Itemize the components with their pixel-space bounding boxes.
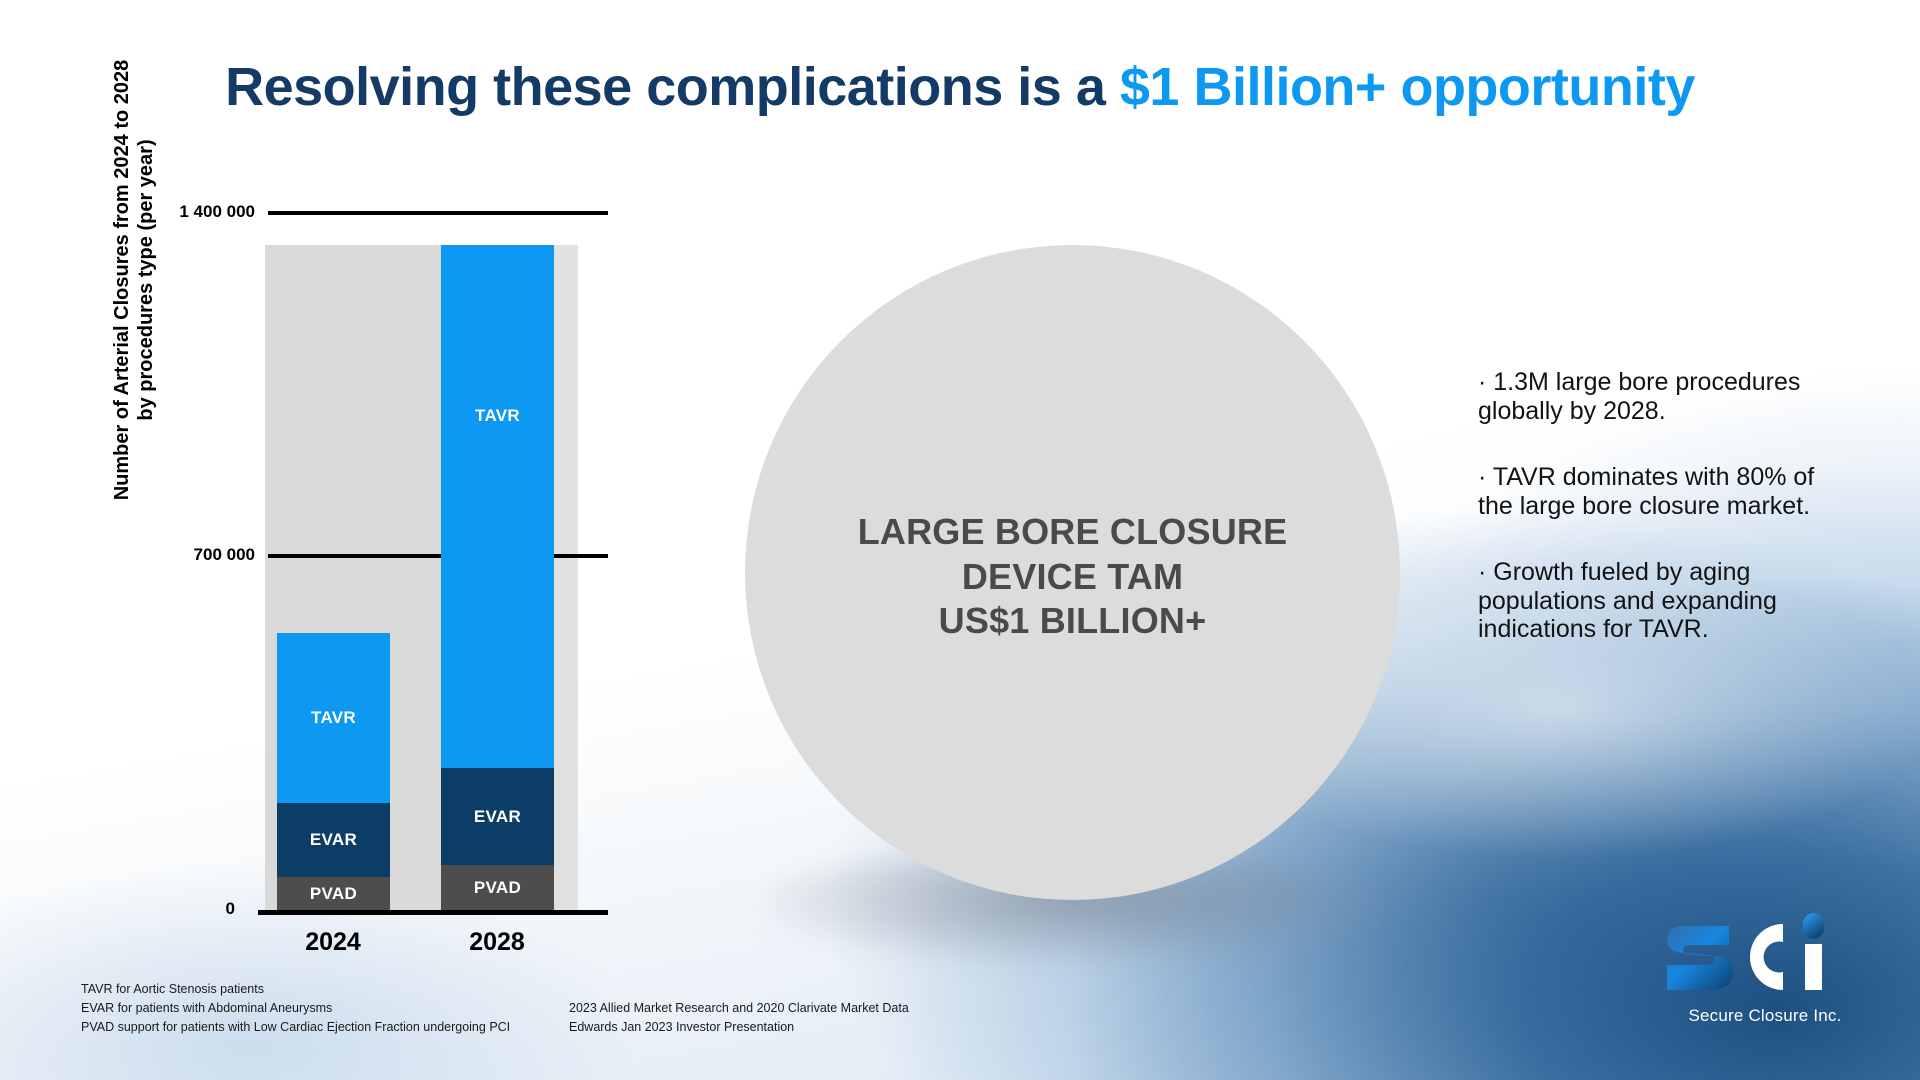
sci-logo-i-stem <box>1805 944 1822 990</box>
key-point-3: · Growth fueled by aging populations and… <box>1478 558 1818 644</box>
footnotes: TAVR for Aortic Stenosis patients EVAR f… <box>81 980 1061 1037</box>
footnote-row-2: EVAR for patients with Abdominal Aneurys… <box>81 999 1061 1018</box>
sci-logo-c <box>1750 924 1783 990</box>
key-point-1: · 1.3M large bore procedures globally by… <box>1478 368 1818 425</box>
logo-caption: Secure Closure Inc. <box>1645 1006 1885 1026</box>
company-logo: Secure Closure Inc. <box>1645 900 1885 1040</box>
footnote-row-1: TAVR for Aortic Stenosis patients <box>81 980 1061 999</box>
tam-circle-line1: LARGE BORE CLOSURE <box>745 510 1400 555</box>
tam-circle-text: LARGE BORE CLOSURE DEVICE TAM US$1 BILLI… <box>745 510 1400 644</box>
sci-logo-mark <box>1645 900 1885 1010</box>
tam-circle-line3: US$1 BILLION+ <box>745 599 1400 644</box>
key-point-2: · TAVR dominates with 80% of the large b… <box>1478 463 1818 520</box>
page-title-dark-part: Resolving these complications is a <box>225 57 1120 117</box>
key-points-list: · 1.3M large bore procedures globally by… <box>1478 368 1818 644</box>
page-title: Resolving these complications is a $1 Bi… <box>0 56 1920 118</box>
page-title-blue-part: $1 Billion+ opportunity <box>1120 57 1695 117</box>
footnote-left-3: PVAD support for patients with Low Cardi… <box>81 1018 569 1037</box>
tam-circle-line2: DEVICE TAM <box>745 555 1400 600</box>
footnote-left-1: TAVR for Aortic Stenosis patients <box>81 980 569 999</box>
sci-logo-s <box>1667 926 1733 990</box>
footnote-right-2: 2023 Allied Market Research and 2020 Cla… <box>569 999 909 1018</box>
footnote-row-3: PVAD support for patients with Low Cardi… <box>81 1018 1061 1037</box>
footnote-right-3: Edwards Jan 2023 Investor Presentation <box>569 1018 794 1037</box>
footnote-left-2: EVAR for patients with Abdominal Aneurys… <box>81 999 569 1018</box>
sci-logo-i-dot <box>1803 913 1825 939</box>
slide-canvas: Resolving these complications is a $1 Bi… <box>0 0 1920 1080</box>
